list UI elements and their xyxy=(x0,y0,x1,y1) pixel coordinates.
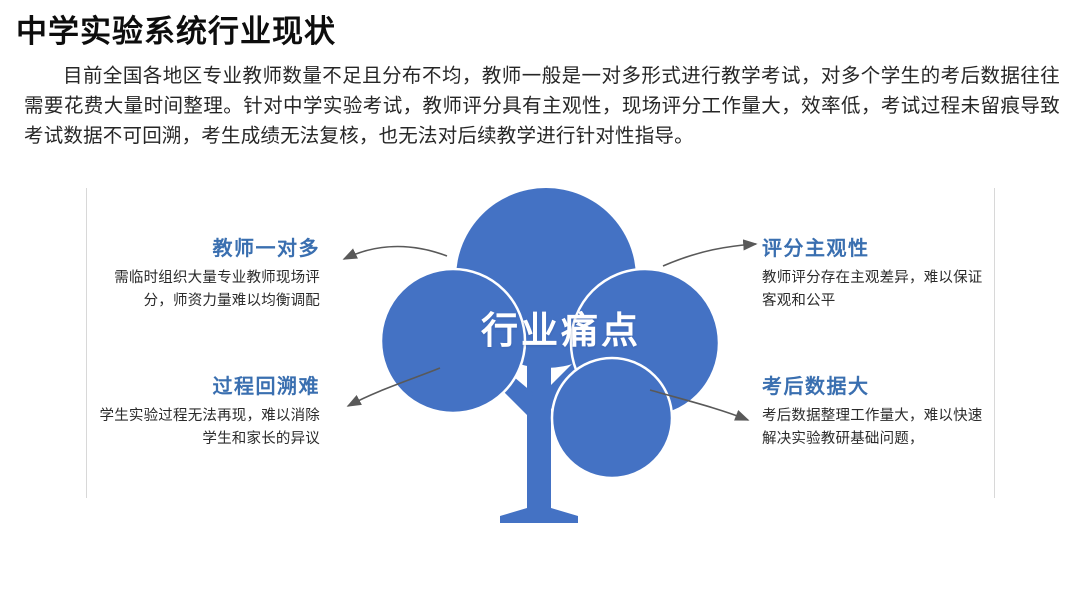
arrow-to-scoring-subjectivity xyxy=(663,244,756,266)
callout-body: 需临时组织大量专业教师现场评分，师资力量难以均衡调配 xyxy=(88,267,320,313)
callout-body: 考后数据整理工作量大，难以快速解决实验教研基础问题， xyxy=(762,405,994,451)
callout-body: 教师评分存在主观差异，难以保证客观和公平 xyxy=(762,267,994,313)
callout-scoring-subjectivity: 评分主观性 教师评分存在主观差异，难以保证客观和公平 xyxy=(762,236,994,313)
callout-process-traceback: 过程回溯难 学生实验过程无法再现，难以消除学生和家长的异议 xyxy=(88,374,320,451)
callout-title: 考后数据大 xyxy=(762,374,994,400)
callout-body: 学生实验过程无法再现，难以消除学生和家长的异议 xyxy=(88,405,320,451)
callout-post-exam-data: 考后数据大 考后数据整理工作量大，难以快速解决实验教研基础问题， xyxy=(762,374,994,451)
callout-title: 教师一对多 xyxy=(88,236,320,262)
callout-title: 过程回溯难 xyxy=(88,374,320,400)
slide-root: 中学实验系统行业现状 目前全国各地区专业教师数量不足且分布不均，教师一般是一对多… xyxy=(0,0,1080,608)
callout-title: 评分主观性 xyxy=(762,236,994,262)
callout-teacher-one-to-many: 教师一对多 需临时组织大量专业教师现场评分，师资力量难以均衡调配 xyxy=(88,236,320,313)
tree-graphic xyxy=(0,178,1080,528)
tree-canopy-bottom xyxy=(552,358,672,478)
pain-point-diagram: 行业痛点 教师一对多 需临时组织大量专业教师现场评分，师资力量难以均衡调配 过程… xyxy=(0,178,1080,528)
page-title: 中学实验系统行业现状 xyxy=(16,6,336,51)
arrow-to-teacher-one-to-many xyxy=(344,247,447,259)
tree-canopy-left xyxy=(381,269,525,413)
body-paragraph: 目前全国各地区专业教师数量不足且分布不均，教师一般是一对多形式进行教学考试，对多… xyxy=(24,62,1060,152)
